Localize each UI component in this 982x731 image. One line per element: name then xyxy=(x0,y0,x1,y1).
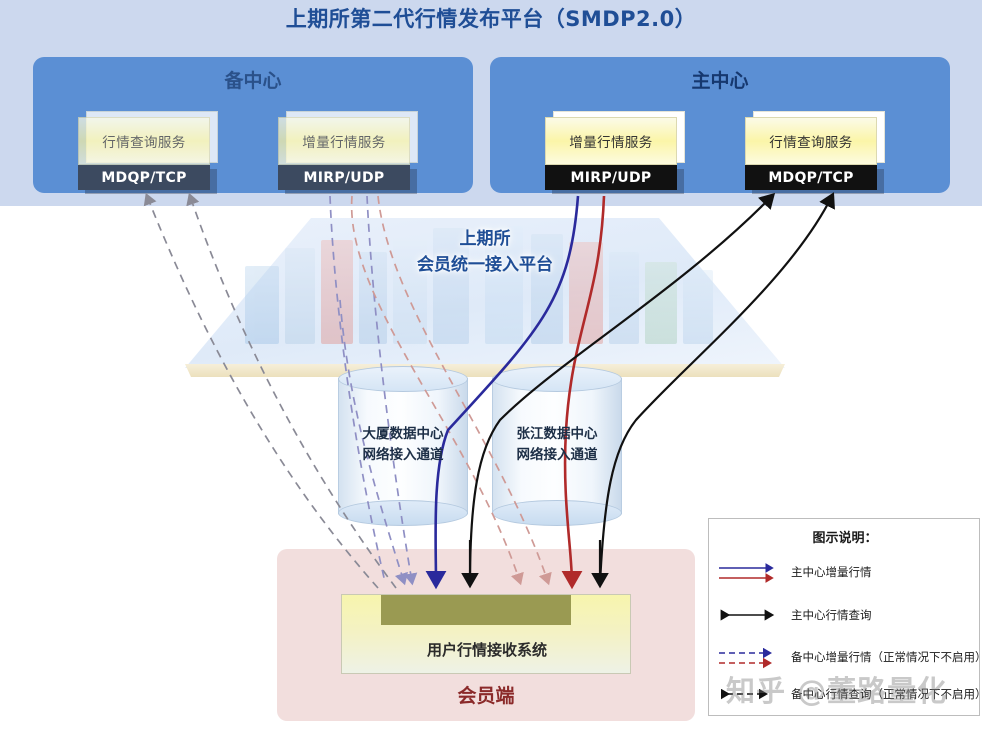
legend-item-2: 备中心增量行情（正常情况下不启用） xyxy=(717,644,981,672)
main-service-name-0: 增量行情服务 xyxy=(545,117,677,165)
diagram-canvas: 上期所第二代行情发布平台（SMDP2.0） 备中心 行情查询服务 MDQP/TC… xyxy=(0,0,982,731)
channel-1-line2: 网络接入通道 xyxy=(517,447,598,463)
legend-item-3: 备中心行情查询（正常情况下不启用） xyxy=(717,681,981,709)
backup-service-protocol-0: MDQP/TCP xyxy=(78,165,210,190)
legend-panel: 图示说明： 主中心增量行情 xyxy=(708,518,980,716)
receiver-ingress-band xyxy=(381,595,571,625)
main-center-title: 主中心 xyxy=(490,66,950,93)
channel-1-line1: 张江数据中心 xyxy=(517,426,598,442)
backup-center-title: 备中心 xyxy=(33,66,473,93)
member-panel-title: 会员端 xyxy=(277,681,695,708)
receiver-system-label: 用户行情接收系统 xyxy=(342,639,632,660)
member-panel: 用户行情接收系统 会员端 xyxy=(277,549,695,721)
legend-label-3: 备中心行情查询（正常情况下不启用） xyxy=(791,686,982,702)
channel-cylinder-1: 张江数据中心 网络接入通道 xyxy=(492,366,622,526)
access-platform-label: 上期所 会员统一接入平台 xyxy=(185,226,785,278)
legend-item-1: 主中心行情查询 xyxy=(717,602,981,630)
backup-center-panel: 备中心 行情查询服务 MDQP/TCP 增量行情服务 MIRP/UDP xyxy=(33,57,473,193)
legend-title: 图示说明： xyxy=(709,527,981,546)
access-platform-line2: 会员统一接入平台 xyxy=(417,255,553,275)
backup-service-protocol-1: MIRP/UDP xyxy=(278,165,410,190)
access-platform-slab: 上期所 会员统一接入平台 xyxy=(185,218,785,383)
cylinder-bottom xyxy=(338,500,468,526)
legend-glyph-dashed-double xyxy=(717,644,785,672)
main-center-panel: 主中心 增量行情服务 MIRP/UDP 行情查询服务 MDQP/TCP xyxy=(490,57,950,193)
backup-service-name-1: 增量行情服务 xyxy=(278,117,410,165)
receiver-system-box: 用户行情接收系统 xyxy=(341,594,631,674)
channel-cylinder-0: 大厦数据中心 网络接入通道 xyxy=(338,366,468,526)
legend-label-2: 备中心增量行情（正常情况下不启用） xyxy=(791,649,982,665)
channel-label-0: 大厦数据中心 网络接入通道 xyxy=(338,424,468,466)
legend-label-0: 主中心增量行情 xyxy=(791,564,872,580)
cylinder-bottom xyxy=(492,500,622,526)
main-service-protocol-1: MDQP/TCP xyxy=(745,165,877,190)
channel-label-1: 张江数据中心 网络接入通道 xyxy=(492,424,622,466)
legend-item-0: 主中心增量行情 xyxy=(717,559,981,587)
main-service-name-1: 行情查询服务 xyxy=(745,117,877,165)
legend-glyph-solid-bidirectional xyxy=(717,602,785,630)
access-platform-line1: 上期所 xyxy=(460,229,511,249)
legend-glyph-solid-double xyxy=(717,559,785,587)
channel-0-line1: 大厦数据中心 xyxy=(363,426,444,442)
legend-glyph-dashed-bidirectional xyxy=(717,681,785,709)
channel-0-line2: 网络接入通道 xyxy=(363,447,444,463)
cylinder-top xyxy=(492,366,622,392)
backup-service-name-0: 行情查询服务 xyxy=(78,117,210,165)
main-service-protocol-0: MIRP/UDP xyxy=(545,165,677,190)
page-title: 上期所第二代行情发布平台（SMDP2.0） xyxy=(0,2,982,36)
legend-label-1: 主中心行情查询 xyxy=(791,607,872,623)
cylinder-top xyxy=(338,366,468,392)
